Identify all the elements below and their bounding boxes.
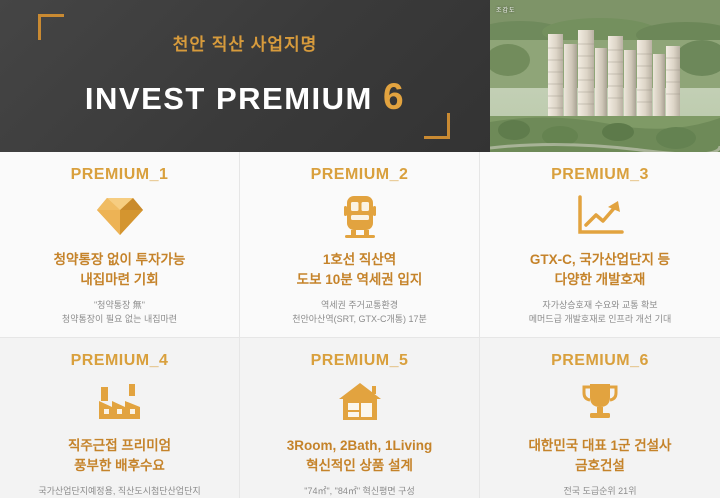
train-icon bbox=[248, 190, 471, 242]
premium-card-6-label: PREMIUM_6 bbox=[488, 352, 712, 370]
premium-card-2: PREMIUM_2 1호선 직산역 도보 10분 역세권 입지 bbox=[240, 152, 480, 338]
premium-card-5-subtext: "74㎡", "84㎡" 혁신평면 구성 인기 많은 중소형 판상형 4Bay … bbox=[248, 485, 471, 498]
premium-card-4: PREMIUM_4 직주근접 프리미엄 풍부한 배후수요 국가산업단지예정용, … bbox=[0, 338, 240, 498]
rendering-badge: 조감도 bbox=[496, 5, 516, 14]
header-subtitle: 천안 직산 사업지명 bbox=[0, 30, 490, 55]
premium-card-5: PREMIUM_5 3Room, 2Bath, 1Living 혁신적인 상품 … bbox=[240, 338, 480, 498]
premium-card-6-subtext: 전국 도급순위 21위 명실상부 대한민국 대표 건설사 bbox=[488, 485, 712, 498]
factory-icon bbox=[8, 376, 231, 428]
diamond-icon bbox=[8, 190, 231, 242]
premium-card-2-subtext: 역세권 주거교통환경 천안아산역(SRT, GTX-C개통) 17분 bbox=[248, 299, 471, 327]
premium-card-1: PREMIUM_1 청약통장 없이 투자가능 내집마련 기회 "청약통장 無" … bbox=[0, 152, 240, 338]
premium-card-4-heading: 직주근접 프리미엄 풍부한 배후수요 bbox=[8, 436, 231, 475]
house-plan-icon bbox=[248, 376, 471, 428]
premium-card-1-heading: 청약통장 없이 투자가능 내집마련 기회 bbox=[8, 250, 231, 289]
growth-chart-icon bbox=[488, 190, 712, 242]
premium-card-3-heading: GTX-C, 국가산업단지 등 다양한 개발호재 bbox=[488, 250, 712, 289]
premium-card-4-subtext: 국가산업단지예정용, 직산도시첨단산업단지 BIT산업단지, 천안테크노파크, … bbox=[8, 485, 231, 498]
premium-card-5-label: PREMIUM_5 bbox=[248, 352, 471, 370]
premium-card-1-subtext: "청약통장 無" 청약통장이 필요 없는 내집마련 bbox=[8, 299, 231, 327]
premium-card-5-heading: 3Room, 2Bath, 1Living 혁신적인 상품 설계 bbox=[248, 436, 471, 475]
premium-card-1-label: PREMIUM_1 bbox=[8, 166, 231, 184]
page-title-text: INVEST PREMIUM bbox=[85, 81, 373, 116]
page-header: 천안 직산 사업지명 INVEST PREMIUM 6 bbox=[0, 0, 720, 152]
promotional-page: 천안 직산 사업지명 INVEST PREMIUM 6 bbox=[0, 0, 720, 498]
premium-card-2-heading: 1호선 직산역 도보 10분 역세권 입지 bbox=[248, 250, 471, 289]
premium-grid: PREMIUM_1 청약통장 없이 투자가능 내집마련 기회 "청약통장 無" … bbox=[0, 152, 720, 498]
premium-card-6-heading: 대한민국 대표 1군 건설사 금호건설 bbox=[488, 436, 712, 475]
premium-card-4-label: PREMIUM_4 bbox=[8, 352, 231, 370]
premium-card-3: PREMIUM_3 GTX-C, 국가산업단지 등 다양한 개발호재 자가상승호… bbox=[480, 152, 720, 338]
premium-card-3-label: PREMIUM_3 bbox=[488, 166, 712, 184]
premium-card-6: PREMIUM_6 대한민국 대표 1군 건설사 금호건설 전국 도급순위 21… bbox=[480, 338, 720, 498]
page-title-number: 6 bbox=[383, 76, 405, 117]
header-title-panel: 천안 직산 사업지명 INVEST PREMIUM 6 bbox=[0, 0, 490, 152]
aerial-rendering-illustration bbox=[490, 0, 720, 152]
page-title: INVEST PREMIUM 6 bbox=[0, 76, 490, 118]
site-rendering-image: 조감도 bbox=[490, 0, 720, 152]
trophy-icon bbox=[488, 376, 712, 428]
premium-card-2-label: PREMIUM_2 bbox=[248, 166, 471, 184]
premium-card-3-subtext: 자가상승호재 수요와 교통 확보 메머드급 개발호재로 인프라 개선 기대 bbox=[488, 299, 712, 327]
